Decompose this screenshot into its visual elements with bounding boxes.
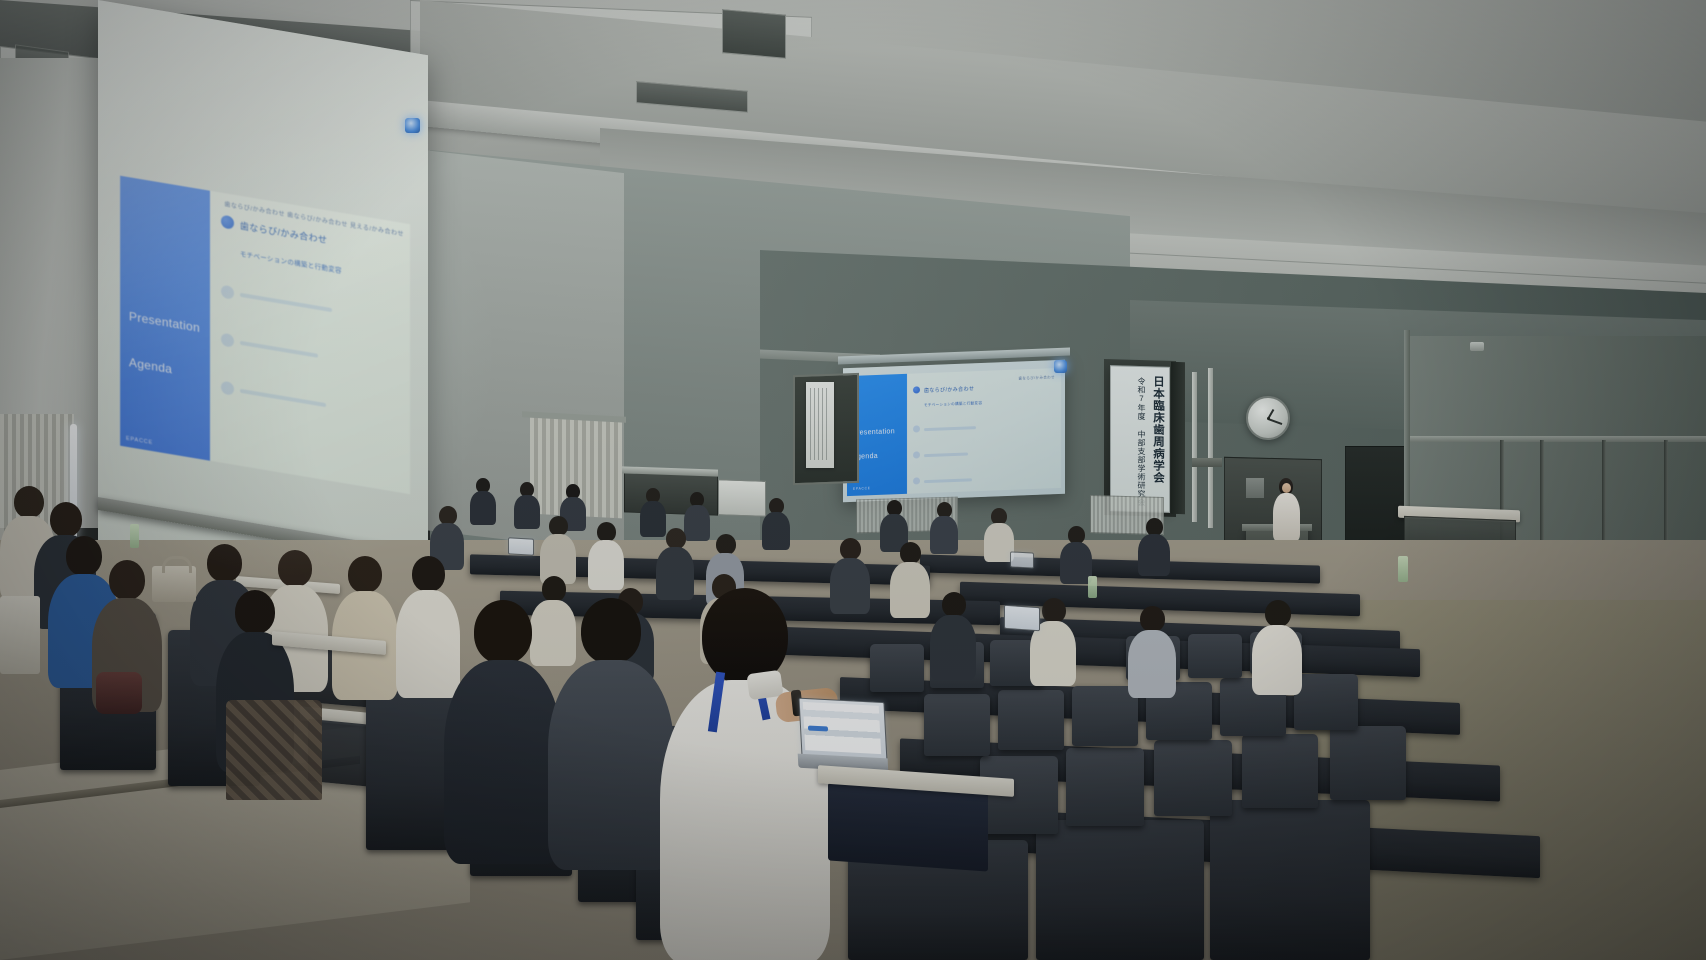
attendee-body (1128, 630, 1176, 698)
attendee-head (900, 542, 921, 564)
secondary-projection-screen[interactable]: Presentation Agenda EPACCE 歯ならび/かみ合わせ 歯な… (843, 360, 1065, 503)
second-slide-top-note: 歯ならび/かみ合わせ (1019, 374, 1055, 380)
attendee-body (762, 512, 790, 550)
attendee-far-8 (930, 502, 958, 552)
second-slide-bullet-icon-3 (913, 477, 920, 484)
whiteboard-small (718, 479, 766, 517)
chair-fg-8[interactable] (1210, 800, 1370, 960)
emergency-light (1470, 342, 1484, 351)
tote-bag-floor[interactable] (0, 596, 40, 674)
attendee-mid-9 (1128, 606, 1176, 696)
wall-clock (1246, 396, 1290, 440)
wall-rail-right (1410, 436, 1706, 442)
attendee-head (235, 590, 275, 634)
main-projection-screen[interactable]: Presentation Agenda EPACCE 歯ならび/かみ合わせ 歯な… (98, 0, 428, 615)
second-slide-bullet-icon-1 (913, 425, 920, 432)
second-slide-subheading: モチベーションの構築と行動変容 (924, 401, 982, 408)
main-slide-bullet-line-1 (240, 293, 332, 312)
attendee-head (1265, 600, 1291, 627)
conference-banner: 日本臨床歯周病学会 令和7年度 中部支部学術研究会 (1110, 365, 1170, 513)
attendee-head (50, 502, 82, 537)
attendee-head (597, 522, 616, 542)
main-slide-bullet-icon-2 (221, 333, 234, 348)
chair-row4-2[interactable] (998, 690, 1064, 750)
second-slide-heading: 歯ならび/かみ合わせ (924, 385, 974, 394)
attendee-body (930, 615, 976, 680)
attendee-head (549, 516, 568, 536)
wall-sign-plate (1192, 458, 1222, 467)
attendee-head (474, 600, 532, 664)
attendee-fg-suit-1 (444, 600, 562, 860)
attendee-body (1138, 534, 1170, 576)
second-slide-bullet-line-2 (924, 452, 968, 457)
attendee-mid-10 (1252, 600, 1302, 692)
main-slide-body: 歯ならび/かみ合わせ 歯ならび/かみ合わせ 見える/かみ合わせ 歯ならび/かみ合… (210, 191, 410, 494)
main-slide: Presentation Agenda EPACCE 歯ならび/かみ合わせ 歯な… (120, 176, 410, 495)
attendee-body (588, 540, 624, 590)
clock-center-pin (1267, 417, 1270, 420)
attendee-head (581, 598, 641, 664)
chalkboard-notice-text-lines (810, 388, 830, 460)
main-slide-subheading: モチベーションの構築と行動変容 (240, 248, 342, 275)
chair-row5-5[interactable] (1188, 634, 1242, 678)
chair-row3-4[interactable] (1242, 734, 1318, 808)
attendee-far-2 (514, 482, 540, 528)
presenter-body (1273, 493, 1300, 541)
attendee-far-6 (762, 498, 790, 548)
main-slide-sidebar-item-0: Presentation (129, 309, 200, 335)
second-slide: Presentation Agenda EPACCE 歯ならび/かみ合わせ 歯な… (847, 368, 1061, 496)
chair-fg-7[interactable] (1036, 820, 1204, 960)
attendee-head (412, 556, 445, 592)
main-slide-bullet-icon-1 (221, 285, 234, 300)
attendee-body (470, 491, 496, 525)
water-bottle-2[interactable] (1398, 556, 1408, 582)
chair-row3-3[interactable] (1154, 740, 1232, 816)
chair-row4-1[interactable] (924, 694, 990, 756)
attendee-head (1042, 598, 1066, 623)
second-slide-bullet-icon-2 (913, 451, 920, 458)
main-slide-sidebar-item-1: Agenda (129, 355, 172, 376)
attendee-left-6 (332, 556, 398, 698)
attendee-head (278, 550, 312, 587)
main-slide-bullet-line-3 (240, 389, 326, 407)
second-slide-bullet-line-3 (924, 478, 972, 483)
attendee-body (890, 562, 930, 618)
second-slide-logo: EPACCE (853, 486, 871, 491)
attendee-far-11 (1138, 518, 1170, 574)
attendee-head (716, 534, 736, 555)
chair-row4-6[interactable] (1294, 674, 1358, 730)
attendee-tablet-3[interactable] (1010, 551, 1034, 568)
wall-pipe-2 (1208, 368, 1213, 528)
attendee-body (1252, 625, 1302, 695)
presenter-at-podium (1272, 478, 1302, 540)
main-slide-sidebar: Presentation Agenda EPACCE (120, 176, 210, 461)
attendee-head (942, 592, 966, 617)
attendee-mid-2 (540, 516, 576, 582)
main-slide-bullet-line-2 (240, 341, 318, 358)
laptop-screen-accent (808, 725, 828, 731)
chair-row3-5[interactable] (1330, 726, 1406, 800)
attendee-with-laptop (660, 588, 830, 960)
attendee-head (109, 560, 145, 600)
attendee-far-10 (1060, 526, 1092, 582)
backpack-floor[interactable] (96, 672, 142, 714)
main-slide-logo: EPACCE (126, 436, 153, 447)
desk-cloth-navy (828, 782, 988, 871)
attendee-body (830, 558, 870, 614)
secondary-screen-projector-indicator (1054, 360, 1067, 373)
cabinet-label (1246, 478, 1264, 498)
attendee-body (514, 495, 540, 529)
second-slide-body: 歯ならび/かみ合わせ 歯ならび/かみ合わせ モチベーションの構築と行動変容 (907, 368, 1061, 494)
second-slide-bullet-line-1 (924, 426, 976, 431)
chair-row5-1[interactable] (870, 644, 924, 692)
water-bottle-1[interactable] (130, 524, 139, 548)
wall-pipe-1 (1192, 372, 1197, 522)
main-screen-projector-indicator (405, 118, 420, 133)
main-slide-bullet-icon-3 (221, 381, 234, 396)
attendee-far-1 (470, 478, 496, 524)
main-slide-bullet-icon-0 (221, 215, 234, 230)
clock-minute-hand (1268, 418, 1283, 425)
presenter-face (1282, 483, 1291, 493)
attendee-body (444, 660, 562, 864)
ceiling-vent-1 (722, 9, 786, 59)
attendee-body (548, 660, 674, 870)
handbag-handle (162, 556, 192, 573)
attendee-tablet-2[interactable] (508, 537, 534, 555)
attendee-head (1140, 606, 1165, 632)
attendee-mid-7 (890, 542, 930, 616)
lecture-hall-scene: Presentation Agenda EPACCE 歯ならび/かみ合わせ 歯な… (0, 0, 1706, 960)
attendee-mid-6 (830, 538, 870, 612)
attendee-mid-11 (930, 592, 976, 678)
attendee-head (666, 528, 686, 549)
second-slide-bullet-icon-0 (913, 386, 920, 393)
water-bottle-3[interactable] (1088, 576, 1097, 598)
banner-main-text: 日本臨床歯周病学会 (1151, 375, 1163, 483)
attendee-mid-3 (588, 522, 624, 588)
banner-sub-text: 令和7年度 中部支部学術研究会 (1137, 377, 1145, 507)
chair-row3-2[interactable] (1066, 748, 1144, 826)
banner-dark-post (1171, 362, 1185, 514)
attendee-plaid-skirt (226, 700, 322, 800)
attendee-fg-suit-2 (548, 598, 674, 866)
attendee-head (840, 538, 861, 560)
attendee-body (930, 516, 958, 554)
attendee-head (348, 556, 382, 593)
attendee-tablet-1[interactable] (1004, 605, 1040, 632)
attendee-head (207, 544, 242, 582)
